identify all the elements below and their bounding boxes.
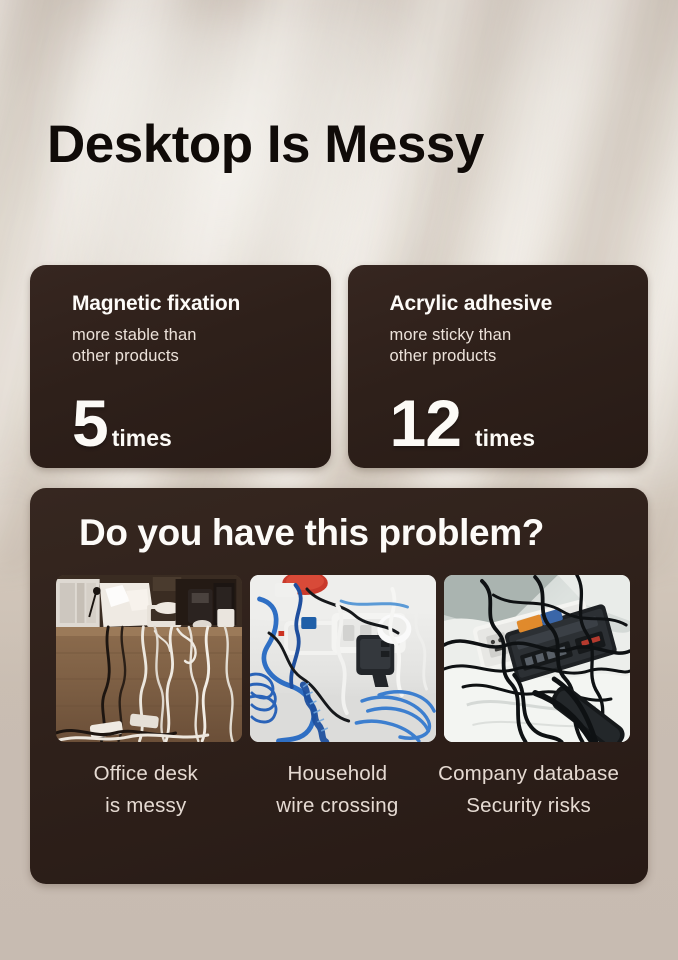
- problem-photos-row: [56, 575, 630, 742]
- feature-card-subtitle-line2: other products: [72, 346, 309, 367]
- database-cables-illustration: [444, 575, 630, 742]
- feature-card-subtitle-line1: more stable than: [72, 325, 309, 346]
- office-desk-illustration: [56, 575, 242, 742]
- caption-line1: Company database: [427, 758, 630, 790]
- feature-card-number: 5: [72, 394, 108, 452]
- problem-caption-household: Household wire crossing: [242, 758, 434, 822]
- caption-line2: Security risks: [427, 790, 630, 822]
- feature-card-subtitle-line2: other products: [390, 346, 627, 367]
- household-cables-illustration: [250, 575, 436, 742]
- feature-card-subtitle: more stable than other products: [72, 325, 309, 367]
- problem-captions-row: Office desk is messy Household wire cros…: [56, 758, 630, 822]
- feature-cards-row: Magnetic fixation more stable than other…: [30, 265, 648, 468]
- caption-line1: Household: [242, 758, 434, 790]
- feature-card-metric: 12 times: [390, 394, 536, 452]
- problem-panel: Do you have this problem?: [30, 488, 648, 884]
- office-desk-tangled-cables-photo: [56, 575, 242, 742]
- feature-card-number: 12: [390, 394, 461, 452]
- feature-card-unit: times: [112, 425, 172, 452]
- problem-caption-company-database: Company database Security risks: [427, 758, 630, 822]
- feature-card-acrylic-adhesive: Acrylic adhesive more sticky than other …: [348, 265, 649, 468]
- feature-card-metric: 5 times: [72, 394, 172, 452]
- feature-card-title: Magnetic fixation: [72, 292, 309, 315]
- caption-line2: wire crossing: [242, 790, 434, 822]
- feature-card-title: Acrylic adhesive: [390, 292, 627, 315]
- problem-caption-office-desk: Office desk is messy: [50, 758, 242, 822]
- household-blue-network-cables-photo: [250, 575, 436, 742]
- page-title: Desktop Is Messy: [47, 117, 484, 173]
- feature-card-unit: times: [475, 425, 535, 452]
- caption-line2: is messy: [50, 790, 242, 822]
- feature-card-subtitle-line1: more sticky than: [390, 325, 627, 346]
- company-database-black-cables-photo: [444, 575, 630, 742]
- problem-panel-title: Do you have this problem?: [79, 514, 630, 553]
- product-marketing-poster: Desktop Is Messy Magnetic fixation more …: [0, 0, 678, 960]
- feature-card-magnetic-fixation: Magnetic fixation more stable than other…: [30, 265, 331, 468]
- feature-card-subtitle: more sticky than other products: [390, 325, 627, 367]
- caption-line1: Office desk: [50, 758, 242, 790]
